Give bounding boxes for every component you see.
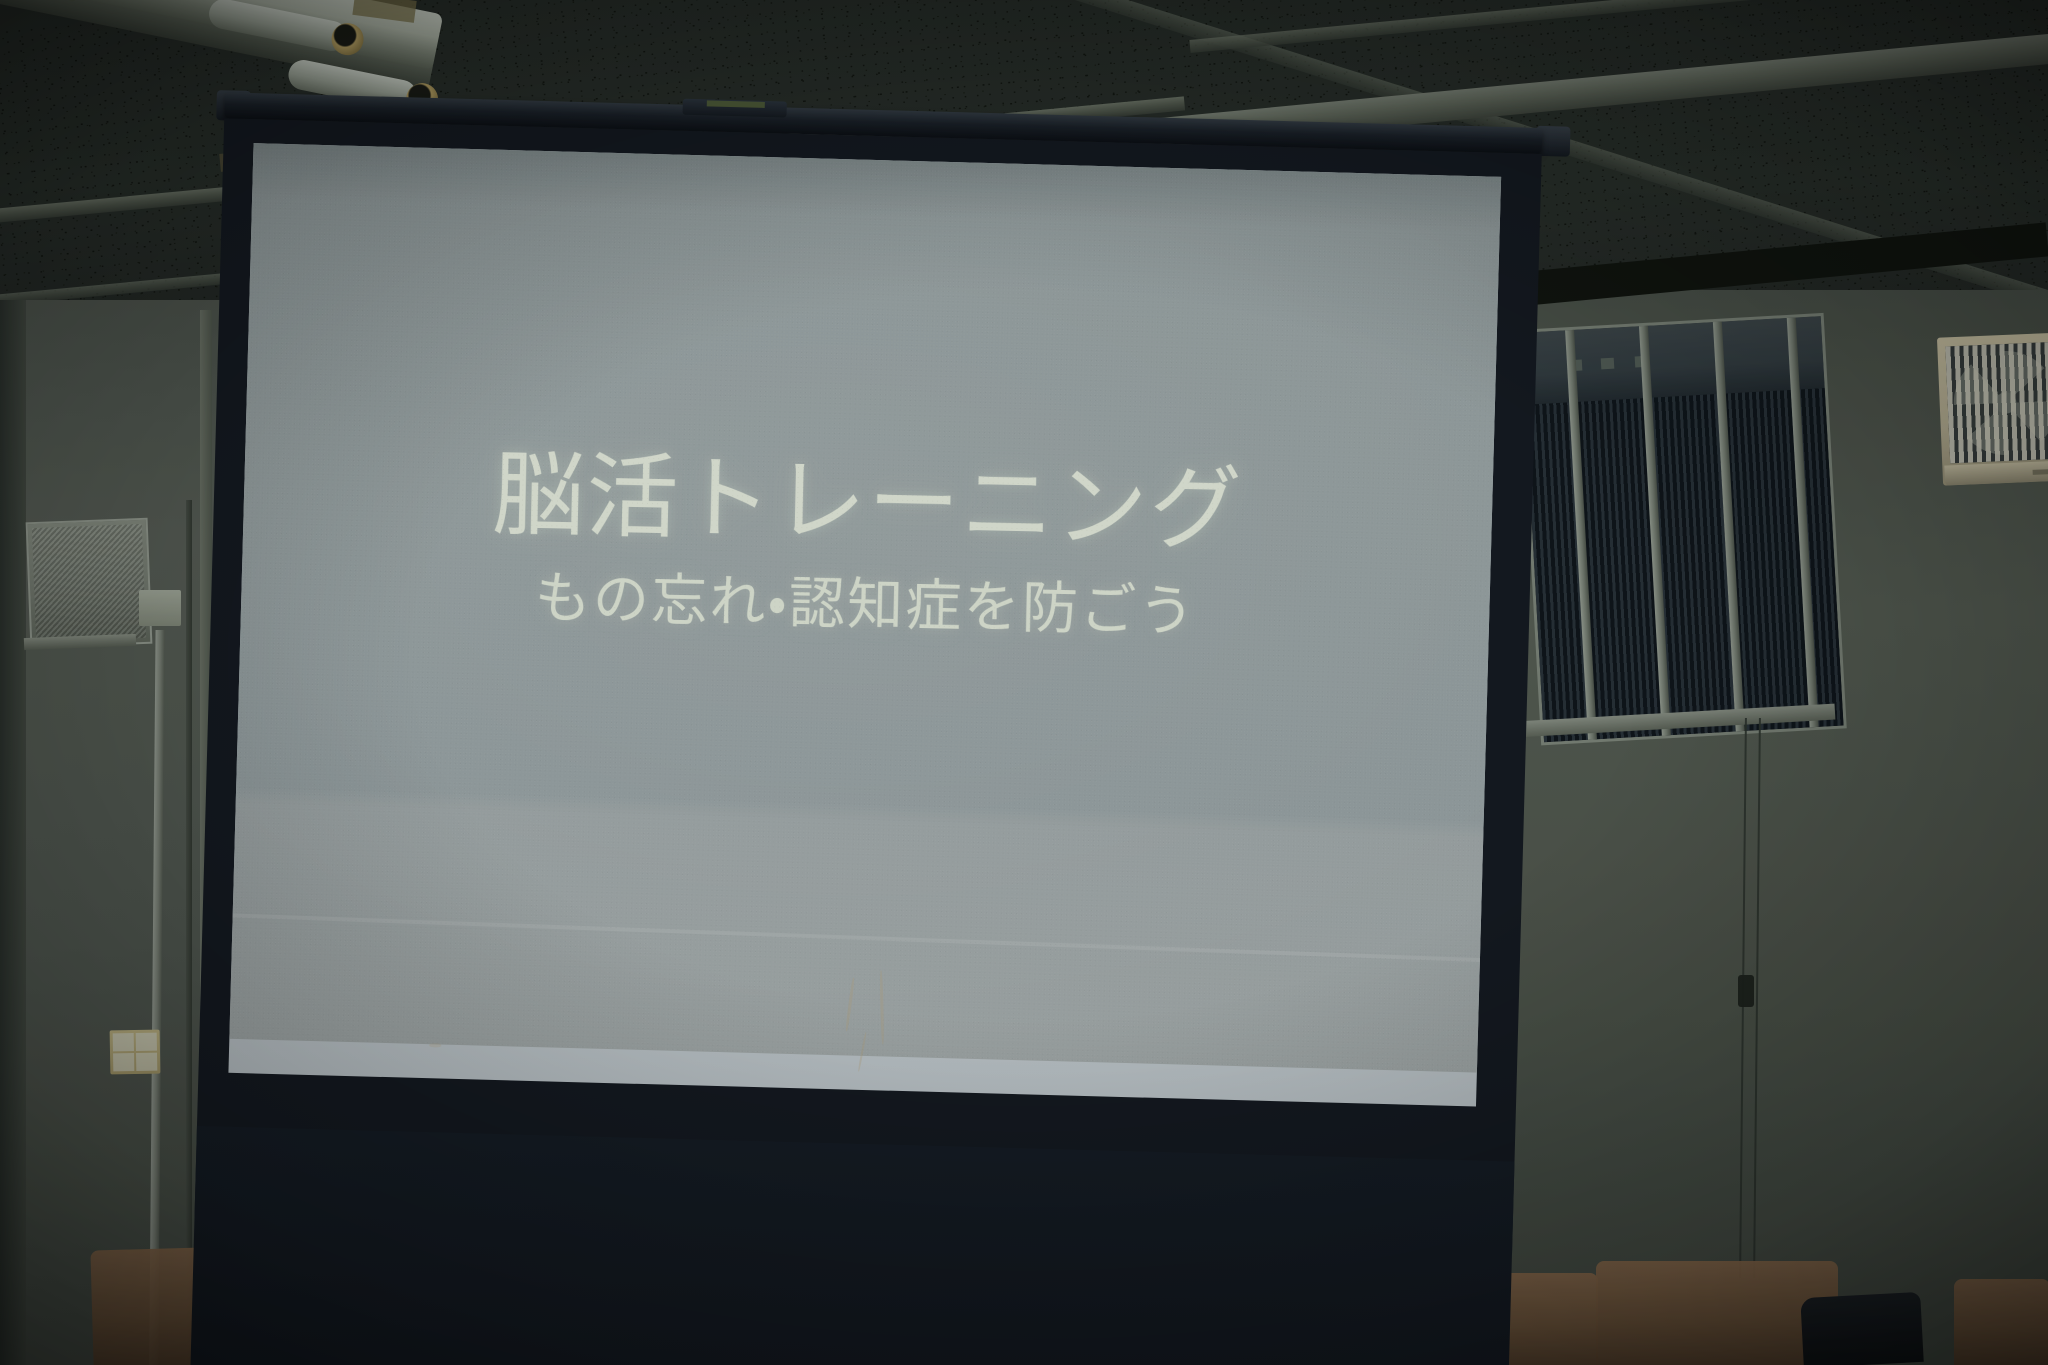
screen-black-border: 脳活トレーニング もの忘れ・認知症を防ごう bbox=[194, 118, 1541, 1253]
slide-title: 脳活トレーニング bbox=[237, 443, 1499, 563]
wall-conduit bbox=[186, 500, 192, 1365]
switch-rocker[interactable] bbox=[113, 1033, 134, 1051]
slide-subtitle: もの忘れ・認知症を防ごう bbox=[235, 546, 1496, 653]
switch-rocker[interactable] bbox=[113, 1053, 134, 1071]
switch-rocker[interactable] bbox=[136, 1033, 157, 1051]
fan-housing-interior bbox=[1945, 342, 2048, 464]
projection-screen: 脳活トレーニング もの忘れ・認知症を防ごう bbox=[253, 128, 1592, 1365]
slide-text-block: 脳活トレーニング もの忘れ・認知症を防ごう bbox=[235, 443, 1499, 654]
screen-surface: 脳活トレーニング もの忘れ・認知症を防ごう bbox=[228, 143, 1501, 1106]
conduit-junction-box bbox=[139, 590, 181, 626]
chair-back bbox=[1954, 1279, 2048, 1365]
projection-lower-edge bbox=[228, 913, 1486, 962]
exhaust-fan bbox=[1937, 332, 2048, 485]
screen-lower-skirt bbox=[186, 1126, 1514, 1365]
photo-canvas: 脳活トレーニング もの忘れ・認知症を防ごう bbox=[0, 0, 2048, 1365]
projection-top-falloff bbox=[246, 143, 1501, 233]
projected-slide: 脳活トレーニング もの忘れ・認知症を防ごう bbox=[228, 143, 1501, 1073]
cord-cleat[interactable] bbox=[1738, 975, 1754, 1007]
ac-grille bbox=[32, 524, 146, 642]
wall-air-conditioner bbox=[26, 518, 153, 649]
light-switch-plate[interactable] bbox=[110, 1030, 161, 1075]
screen-blemish bbox=[429, 1043, 441, 1047]
fan-base-trim bbox=[1944, 460, 2048, 485]
blind-hook bbox=[1601, 358, 1615, 370]
fan-brand-label bbox=[2033, 469, 2048, 475]
fan-louvers bbox=[1945, 342, 2048, 464]
switch-rocker[interactable] bbox=[136, 1053, 157, 1071]
left-wall-shadow bbox=[0, 300, 26, 1365]
bag-on-chair bbox=[1800, 1292, 1923, 1365]
